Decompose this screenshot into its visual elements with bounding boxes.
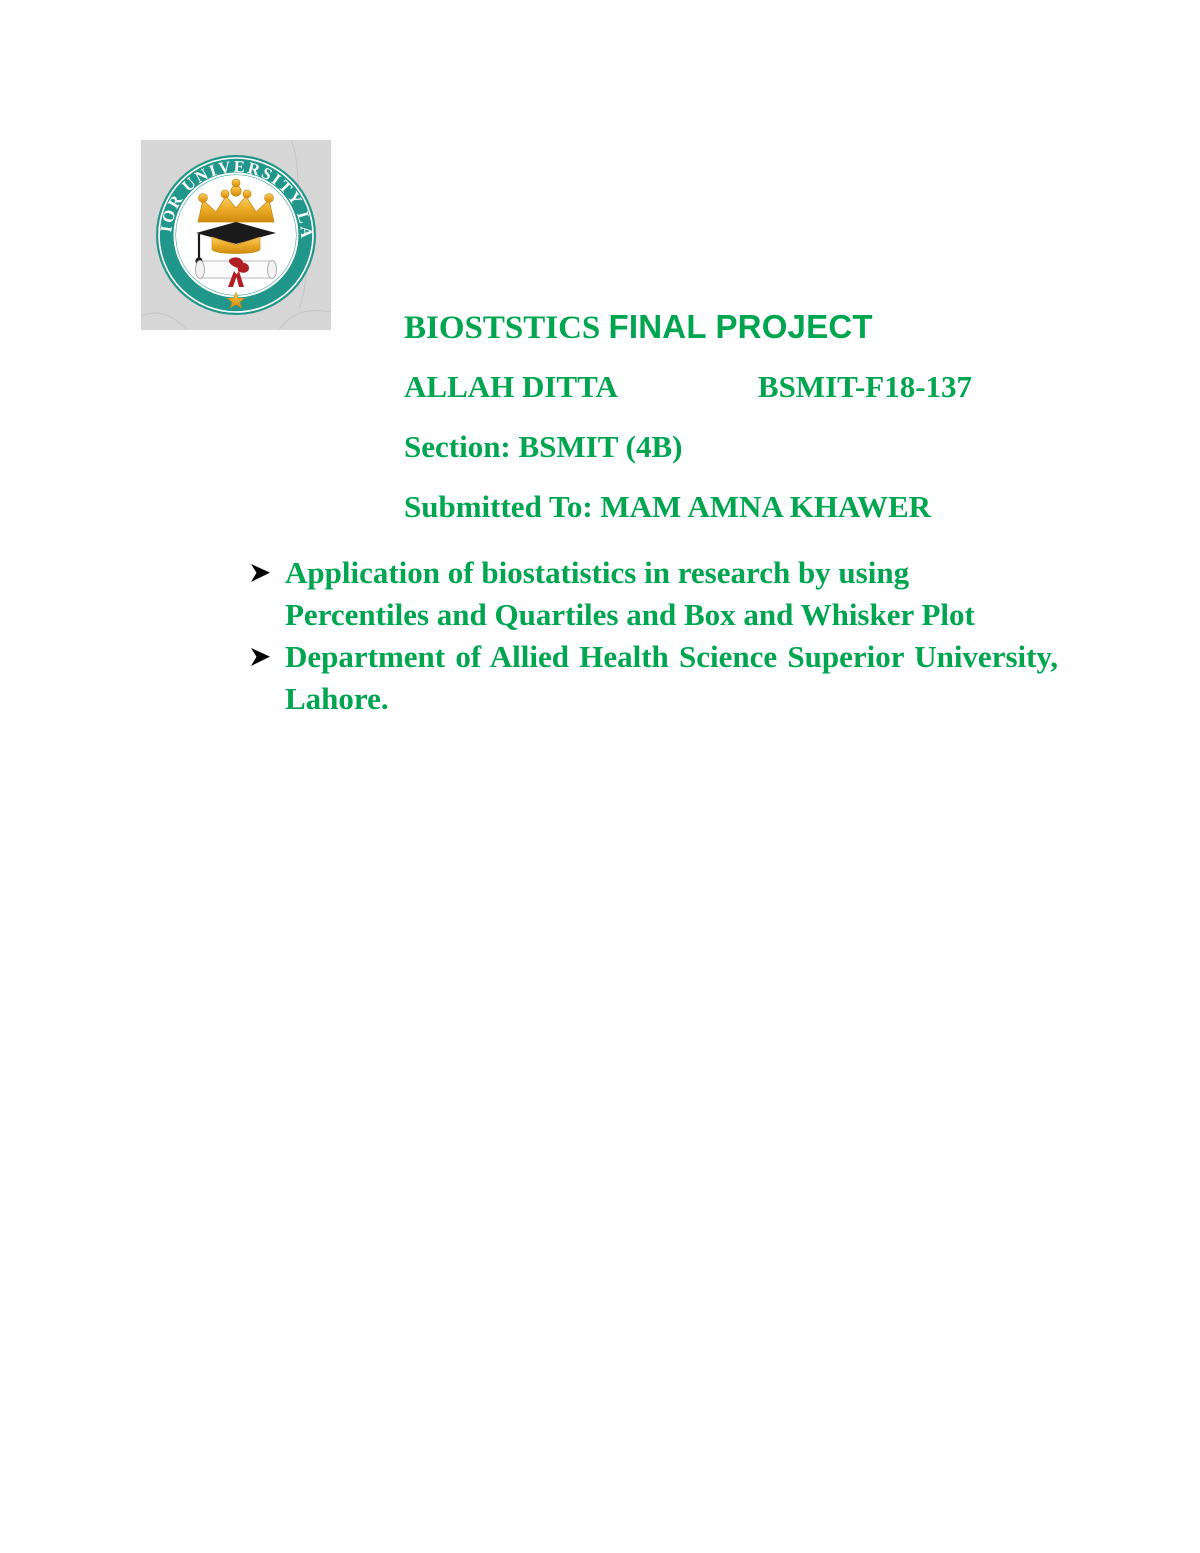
arrowhead-bullet-icon bbox=[250, 636, 280, 667]
arrowhead-bullet-icon bbox=[250, 552, 280, 583]
title-page: SUPERIOR UNIVERSITY LAHORE bbox=[0, 0, 1200, 1553]
title-heading-block: BIOSTSTICS FINAL PROJECT ALLAH DITTABSMI… bbox=[404, 297, 1104, 537]
section-line: Section: BSMIT (4B) bbox=[404, 417, 1104, 477]
list-item-text: Department of Allied Health Science Supe… bbox=[285, 639, 1058, 716]
list-item-text: Application of biostatistics in research… bbox=[285, 555, 975, 632]
roll-number: BSMIT-F18-137 bbox=[758, 369, 972, 404]
student-identity-line: ALLAH DITTABSMIT-F18-137 bbox=[404, 357, 1104, 417]
project-title-sans-part: FINAL PROJECT bbox=[609, 308, 873, 345]
student-name: ALLAH DITTA bbox=[404, 369, 618, 404]
list-item: Department of Allied Health Science Supe… bbox=[250, 636, 1058, 720]
project-title-serif-part: BIOSTSTICS bbox=[404, 310, 609, 346]
list-item: Application of biostatistics in research… bbox=[250, 552, 1058, 636]
university-logo: SUPERIOR UNIVERSITY LAHORE bbox=[141, 140, 331, 330]
submitted-to-line: Submitted To: MAM AMNA KHAWER bbox=[404, 477, 1104, 537]
bullet-list: Application of biostatistics in research… bbox=[250, 552, 1058, 720]
project-title-line: BIOSTSTICS FINAL PROJECT bbox=[404, 297, 1104, 357]
